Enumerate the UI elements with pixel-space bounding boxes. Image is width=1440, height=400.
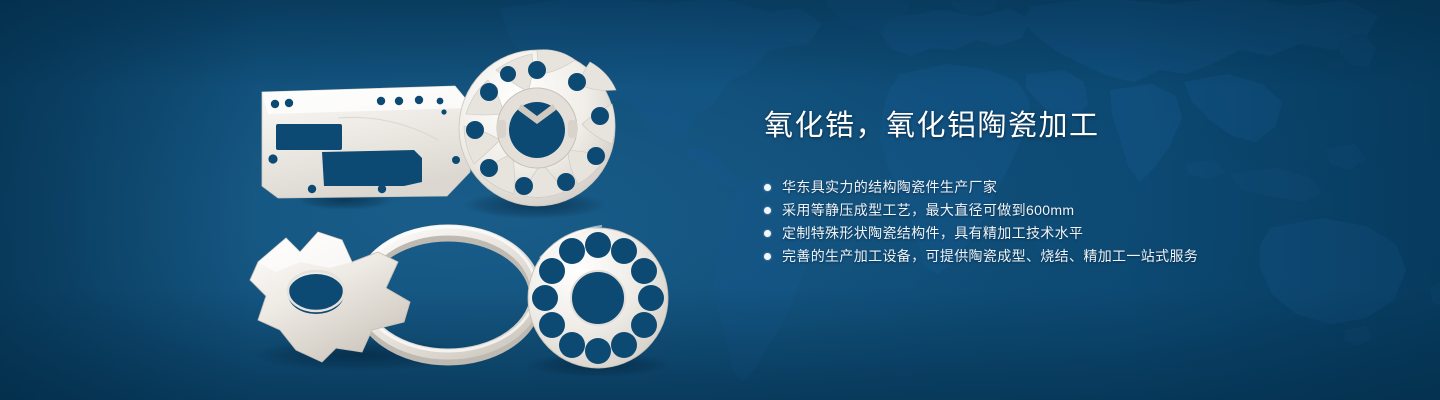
list-item-label: 华东具实力的结构陶瓷件生产厂家	[782, 176, 997, 198]
list-item-label: 完善的生产加工设备，可提供陶瓷成型、烧结、精加工一站式服务	[782, 245, 1198, 267]
list-item: 采用等静压成型工艺，最大直径可做到600mm	[764, 199, 1364, 222]
bullet-dot-icon	[764, 207, 771, 214]
list-item-label: 采用等静压成型工艺，最大直径可做到600mm	[782, 199, 1074, 221]
list-item: 华东具实力的结构陶瓷件生产厂家	[764, 176, 1364, 199]
list-item-label: 定制特殊形状陶瓷结构件，具有精加工技术水平	[782, 222, 1083, 244]
bullet-dot-icon	[764, 230, 771, 237]
bullet-dot-icon	[764, 184, 771, 191]
bullet-dot-icon	[764, 253, 771, 260]
feature-list: 华东具实力的结构陶瓷件生产厂家 采用等静压成型工艺，最大直径可做到600mm 定…	[764, 176, 1364, 268]
list-item: 完善的生产加工设备，可提供陶瓷成型、烧结、精加工一站式服务	[764, 245, 1364, 268]
page-title: 氧化锆，氧化铝陶瓷加工	[764, 106, 1364, 146]
banner-copy: 氧化锆，氧化铝陶瓷加工 华东具实力的结构陶瓷件生产厂家 采用等静压成型工艺，最大…	[764, 106, 1364, 268]
list-item: 定制特殊形状陶瓷结构件，具有精加工技术水平	[764, 222, 1364, 245]
hero-banner: 氧化锆，氧化铝陶瓷加工 华东具实力的结构陶瓷件生产厂家 采用等静压成型工艺，最大…	[0, 0, 1440, 400]
